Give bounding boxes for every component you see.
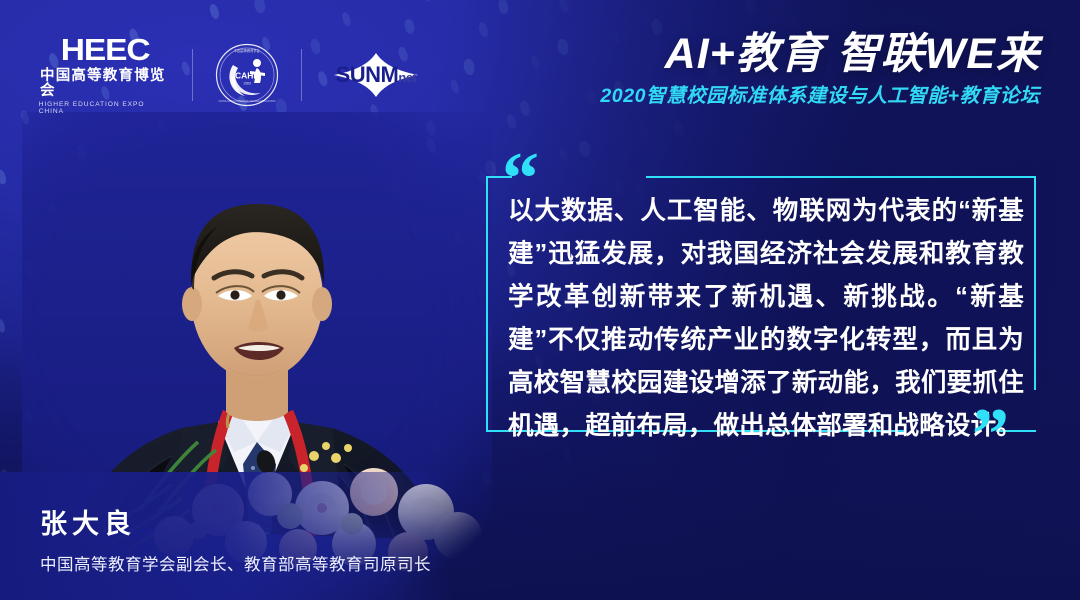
heec-chinese-name: 中国高等教育博览会 [40,69,170,98]
quote-close-mark: ” [972,398,1011,472]
logo-divider-2 [301,49,302,101]
quote-text: 以大数据、人工智能、物联网为代表的“新基建”迅猛发展，对我国经济社会发展和教育教… [508,190,1024,448]
frame-left-line [486,176,488,432]
banner-stage: HEEC 中国高等教育博览会 HIGHER EDUCATION EXPO CHI… [0,0,1080,600]
event-title: AI+教育 智联WE来 [600,32,1040,77]
heec-wordmark: HEEC [61,34,150,65]
svg-text:中国高等教育学会: 中国高等教育学会 [234,48,260,53]
logo-group: HEEC 中国高等教育博览会 HIGHER EDUCATION EXPO CHI… [40,34,428,115]
event-subtitle: 2020智慧校园标准体系建设与人工智能+教育论坛 [600,86,1040,107]
event-title-block: AI+教育 智联WE来 2020智慧校园标准体系建设与人工智能+教育论坛 [600,32,1040,108]
heec-english-name: HIGHER EDUCATION EXPO CHINA [39,102,172,115]
sunm-wordmark: SUNMnet [336,64,417,86]
svg-text:1983: 1983 [243,81,251,85]
svg-text:CHINA ASSOCIATION OF HIGHER ED: CHINA ASSOCIATION OF HIGHER EDUCATION [219,99,276,103]
heec-logo: HEEC 中国高等教育博览会 HIGHER EDUCATION EXPO CHI… [40,34,170,115]
logo-divider-1 [192,49,193,101]
sunm-mark: SUNM [336,62,399,87]
sunmnet-logo: SUNMnet [324,51,428,99]
frame-right-line [1034,176,1036,390]
frame-top-line [646,176,1036,178]
cahe-logo: CAHE 1983 中国高等教育学会 CHINA ASSOCIATION OF … [215,43,279,107]
speaker-name: 张大良 [40,511,136,538]
sunm-suffix: net [398,70,416,85]
svg-text:CAHE: CAHE [235,70,259,80]
speaker-role: 中国高等教育学会副会长、教育部高等教育司原司长 [40,556,431,576]
